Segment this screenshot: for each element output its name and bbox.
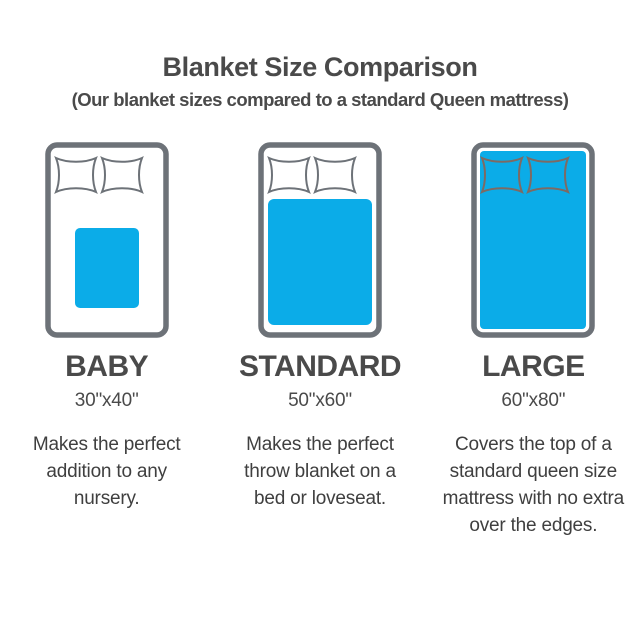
description-baby: Makes the perfect addition to any nurser… [16,432,198,513]
size-name-large: LARGE [482,352,585,382]
column-standard: STANDARD 50"x60" Makes the perfect throw… [213,142,426,513]
pillow-right-baby-icon [102,158,142,192]
bed-illustration-standard-icon [258,142,382,338]
pillow-right-standard-icon [315,158,355,192]
size-dimensions-standard: 50"x60" [288,391,352,410]
comparison-columns: BABY 30"x40" Makes the perfect addition … [0,142,640,540]
blanket-overlay-standard [268,199,372,325]
pillow-left-standard-icon [269,158,309,192]
bed-diagram-baby [45,142,169,338]
size-dimensions-baby: 30"x40" [75,391,139,410]
page-subtitle: (Our blanket sizes compared to a standar… [0,89,640,111]
size-name-standard: STANDARD [239,352,401,382]
header: Blanket Size Comparison (Our blanket siz… [0,0,640,111]
size-name-baby: BABY [65,352,148,382]
bed-diagram-standard [258,142,382,338]
description-large: Covers the top of a standard queen size … [442,432,624,540]
size-dimensions-large: 60"x80" [501,391,565,410]
blanket-overlay-large [480,151,586,329]
bed-diagram-large [471,142,595,338]
bed-illustration-baby-icon [45,142,169,338]
bed-illustration-large-icon [471,142,595,338]
column-large: LARGE 60"x80" Covers the top of a standa… [427,142,640,540]
blanket-overlay-baby [75,228,139,308]
description-standard: Makes the perfect throw blanket on a bed… [229,432,411,513]
blanket-size-comparison-infographic: Blanket Size Comparison (Our blanket siz… [0,0,640,640]
column-baby: BABY 30"x40" Makes the perfect addition … [0,142,213,513]
pillow-left-baby-icon [56,158,96,192]
page-title: Blanket Size Comparison [0,52,640,83]
